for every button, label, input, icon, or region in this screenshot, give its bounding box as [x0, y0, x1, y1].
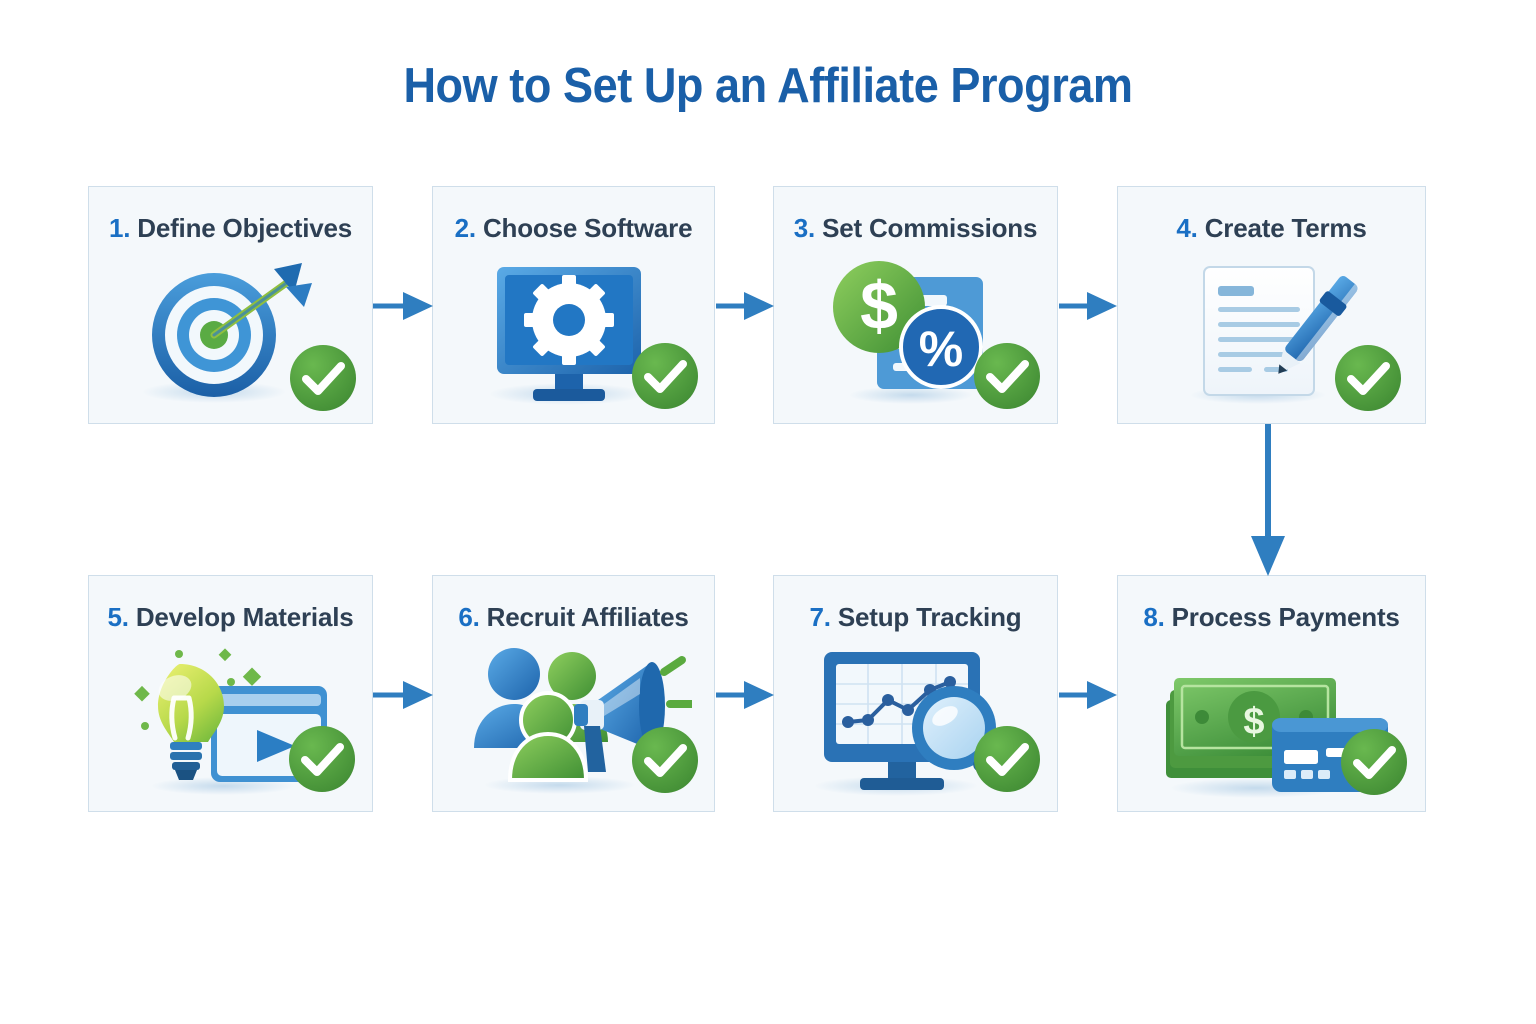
arrow-step7-to-step8: [1059, 677, 1117, 713]
green-check-badge-3: [973, 342, 1041, 410]
green-check-badge-4: [1334, 344, 1402, 412]
infographic-canvas: How to Set Up an Affiliate Program: [0, 0, 1536, 1024]
step-label-3: Set Commissions: [822, 213, 1037, 243]
step-separator-8: .: [1158, 602, 1165, 632]
step-number-3: 3: [794, 213, 808, 243]
arrow-step5-to-step6: [373, 677, 433, 713]
page-title: How to Set Up an Affiliate Program: [61, 58, 1474, 114]
step-title-3: 3. Set Commissions: [774, 213, 1057, 244]
step-number-2: 2: [455, 213, 469, 243]
step-card-7[interactable]: 7. Setup Tracking: [773, 575, 1058, 812]
step-label-1: Define Objectives: [137, 213, 352, 243]
step-label-8: Process Payments: [1172, 602, 1400, 632]
green-check-badge-1: [289, 344, 357, 412]
svg-text:$: $: [1243, 701, 1264, 743]
step-number-7: 7: [810, 602, 824, 632]
step-card-8[interactable]: 8. Process Payments $: [1117, 575, 1426, 812]
arrow-step1-to-step2: [373, 288, 433, 324]
step-separator-1: .: [123, 213, 130, 243]
svg-text:$: $: [860, 268, 898, 344]
green-check-badge-8: [1340, 728, 1408, 796]
green-check-badge-6: [631, 726, 699, 794]
step-title-2: 2. Choose Software: [433, 213, 714, 244]
step-separator-4: .: [1191, 213, 1198, 243]
step-title-4: 4. Create Terms: [1118, 213, 1425, 244]
step-label-5: Develop Materials: [136, 602, 354, 632]
step-label-7: Setup Tracking: [838, 602, 1022, 632]
step-number-8: 8: [1143, 602, 1157, 632]
step-card-4[interactable]: 4. Create Terms: [1117, 186, 1426, 424]
arrow-step3-to-step4: [1059, 288, 1117, 324]
step-label-6: Recruit Affiliates: [487, 602, 689, 632]
step-title-7: 7. Setup Tracking: [774, 602, 1057, 633]
step-card-6[interactable]: 6. Recruit Affiliates: [432, 575, 715, 812]
step-separator-5: .: [122, 602, 129, 632]
step-number-4: 4: [1176, 213, 1190, 243]
green-check-badge-5: [288, 725, 356, 793]
step-card-3[interactable]: 3. Set Commissions $ %: [773, 186, 1058, 424]
step-title-8: 8. Process Payments: [1118, 602, 1425, 633]
green-check-badge-2: [631, 342, 699, 410]
step-title-6: 6. Recruit Affiliates: [433, 602, 714, 633]
step-title-1: 1. Define Objectives: [89, 213, 372, 244]
arrow-step2-to-step3: [716, 288, 774, 324]
step-separator-7: .: [824, 602, 831, 632]
step-separator-3: .: [808, 213, 815, 243]
step-separator-6: .: [473, 602, 480, 632]
step-separator-2: .: [469, 213, 476, 243]
step-title-5: 5. Develop Materials: [89, 602, 372, 633]
step-number-6: 6: [458, 602, 472, 632]
green-check-badge-7: [973, 725, 1041, 793]
step-label-4: Create Terms: [1205, 213, 1367, 243]
svg-text:%: %: [918, 321, 962, 377]
step-card-1[interactable]: 1. Define Objectives: [88, 186, 373, 424]
step-number-5: 5: [107, 602, 121, 632]
arrow-step4-to-step8: [1248, 424, 1288, 576]
step-card-5[interactable]: 5. Develop Materials: [88, 575, 373, 812]
step-number-1: 1: [109, 213, 123, 243]
arrow-step6-to-step7: [716, 677, 774, 713]
step-card-2[interactable]: 2. Choose Software: [432, 186, 715, 424]
step-label-2: Choose Software: [483, 213, 692, 243]
